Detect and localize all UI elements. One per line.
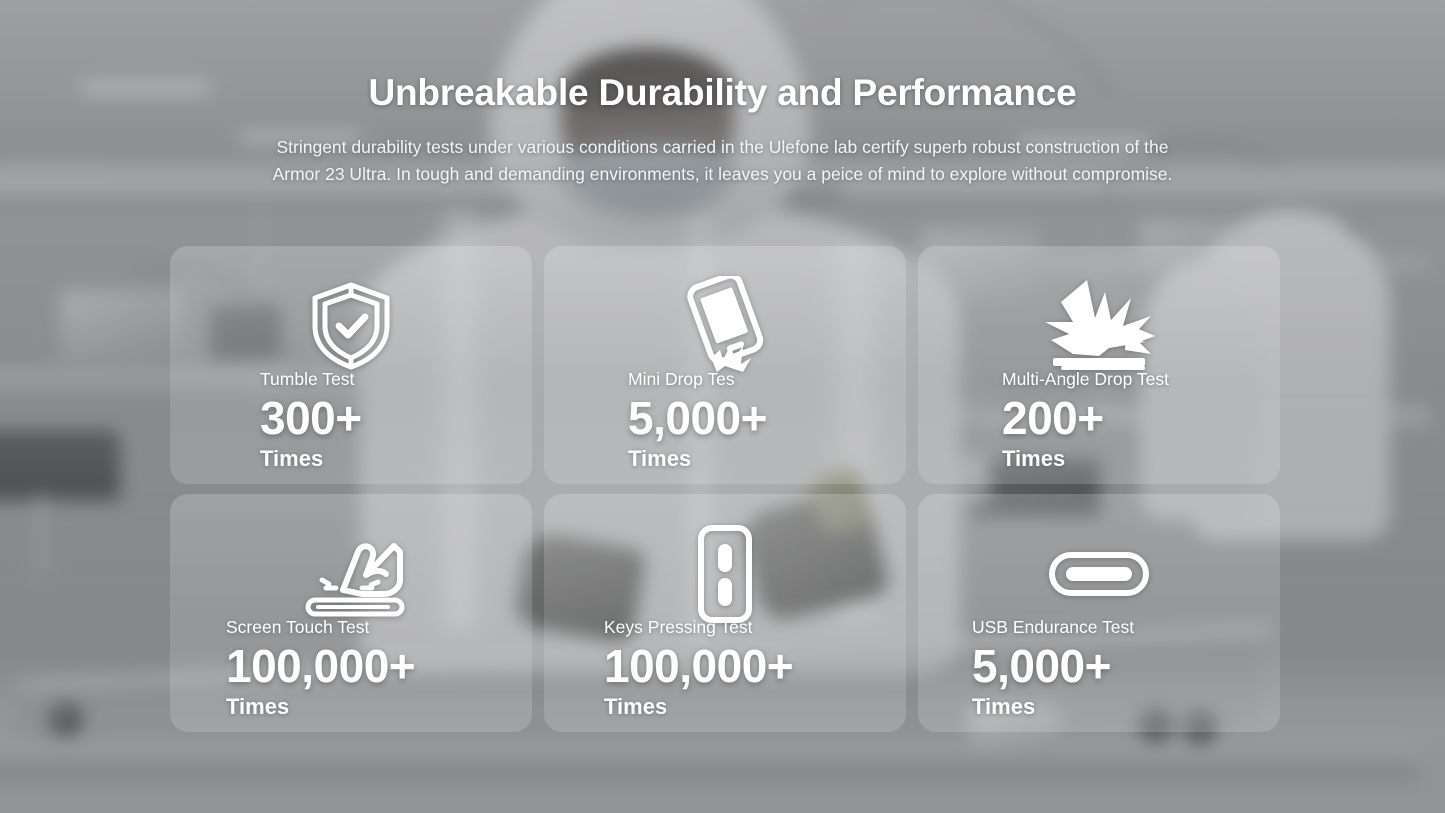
- test-unit: Times: [972, 693, 1266, 720]
- test-card-text: Tumble Test 300+ Times: [260, 368, 518, 472]
- test-card-mini-drop[interactable]: Mini Drop Tes 5,000+ Times: [544, 246, 906, 484]
- test-unit: Times: [604, 693, 892, 720]
- hand-tap-screen-icon: [170, 520, 532, 628]
- test-card-usb-endurance[interactable]: USB Endurance Test 5,000+ Times: [918, 494, 1280, 732]
- shield-check-icon: [170, 272, 532, 380]
- test-label: Screen Touch Test: [226, 616, 518, 639]
- test-value: 5,000+: [628, 391, 892, 445]
- test-label: Tumble Test: [260, 368, 518, 391]
- test-value: 100,000+: [226, 639, 518, 693]
- test-card-tumble[interactable]: Tumble Test 300+ Times: [170, 246, 532, 484]
- test-unit: Times: [1002, 445, 1266, 472]
- test-unit: Times: [260, 445, 518, 472]
- test-unit: Times: [628, 445, 892, 472]
- test-card-text: Keys Pressing Test 100,000+ Times: [604, 616, 892, 720]
- test-card-text: Multi-Angle Drop Test 200+ Times: [1002, 368, 1266, 472]
- test-card-text: USB Endurance Test 5,000+ Times: [972, 616, 1266, 720]
- durability-feature-section: Unbreakable Durability and Performance S…: [0, 0, 1445, 813]
- test-value: 100,000+: [604, 639, 892, 693]
- test-value: 5,000+: [972, 639, 1266, 693]
- test-card-screen-touch[interactable]: Screen Touch Test 100,000+ Times: [170, 494, 532, 732]
- test-label: Keys Pressing Test: [604, 616, 892, 639]
- test-card-text: Screen Touch Test 100,000+ Times: [226, 616, 518, 720]
- side-keys-icon: [544, 520, 906, 628]
- test-unit: Times: [226, 693, 518, 720]
- page-title: Unbreakable Durability and Performance: [0, 72, 1445, 114]
- test-label: Mini Drop Tes: [628, 368, 892, 391]
- usb-c-port-icon: [918, 520, 1280, 628]
- test-card-multi-angle-drop[interactable]: Multi-Angle Drop Test 200+ Times: [918, 246, 1280, 484]
- test-card-text: Mini Drop Tes 5,000+ Times: [628, 368, 892, 472]
- test-label: Multi-Angle Drop Test: [1002, 368, 1266, 391]
- test-card-keys-pressing[interactable]: Keys Pressing Test 100,000+ Times: [544, 494, 906, 732]
- impact-burst-icon: [918, 272, 1280, 380]
- phone-drop-impact-icon: [544, 272, 906, 380]
- durability-test-grid: Tumble Test 300+ Times: [170, 246, 1280, 732]
- test-value: 200+: [1002, 391, 1266, 445]
- test-label: USB Endurance Test: [972, 616, 1266, 639]
- test-value: 300+: [260, 391, 518, 445]
- page-subtitle: Stringent durability tests under various…: [273, 134, 1173, 188]
